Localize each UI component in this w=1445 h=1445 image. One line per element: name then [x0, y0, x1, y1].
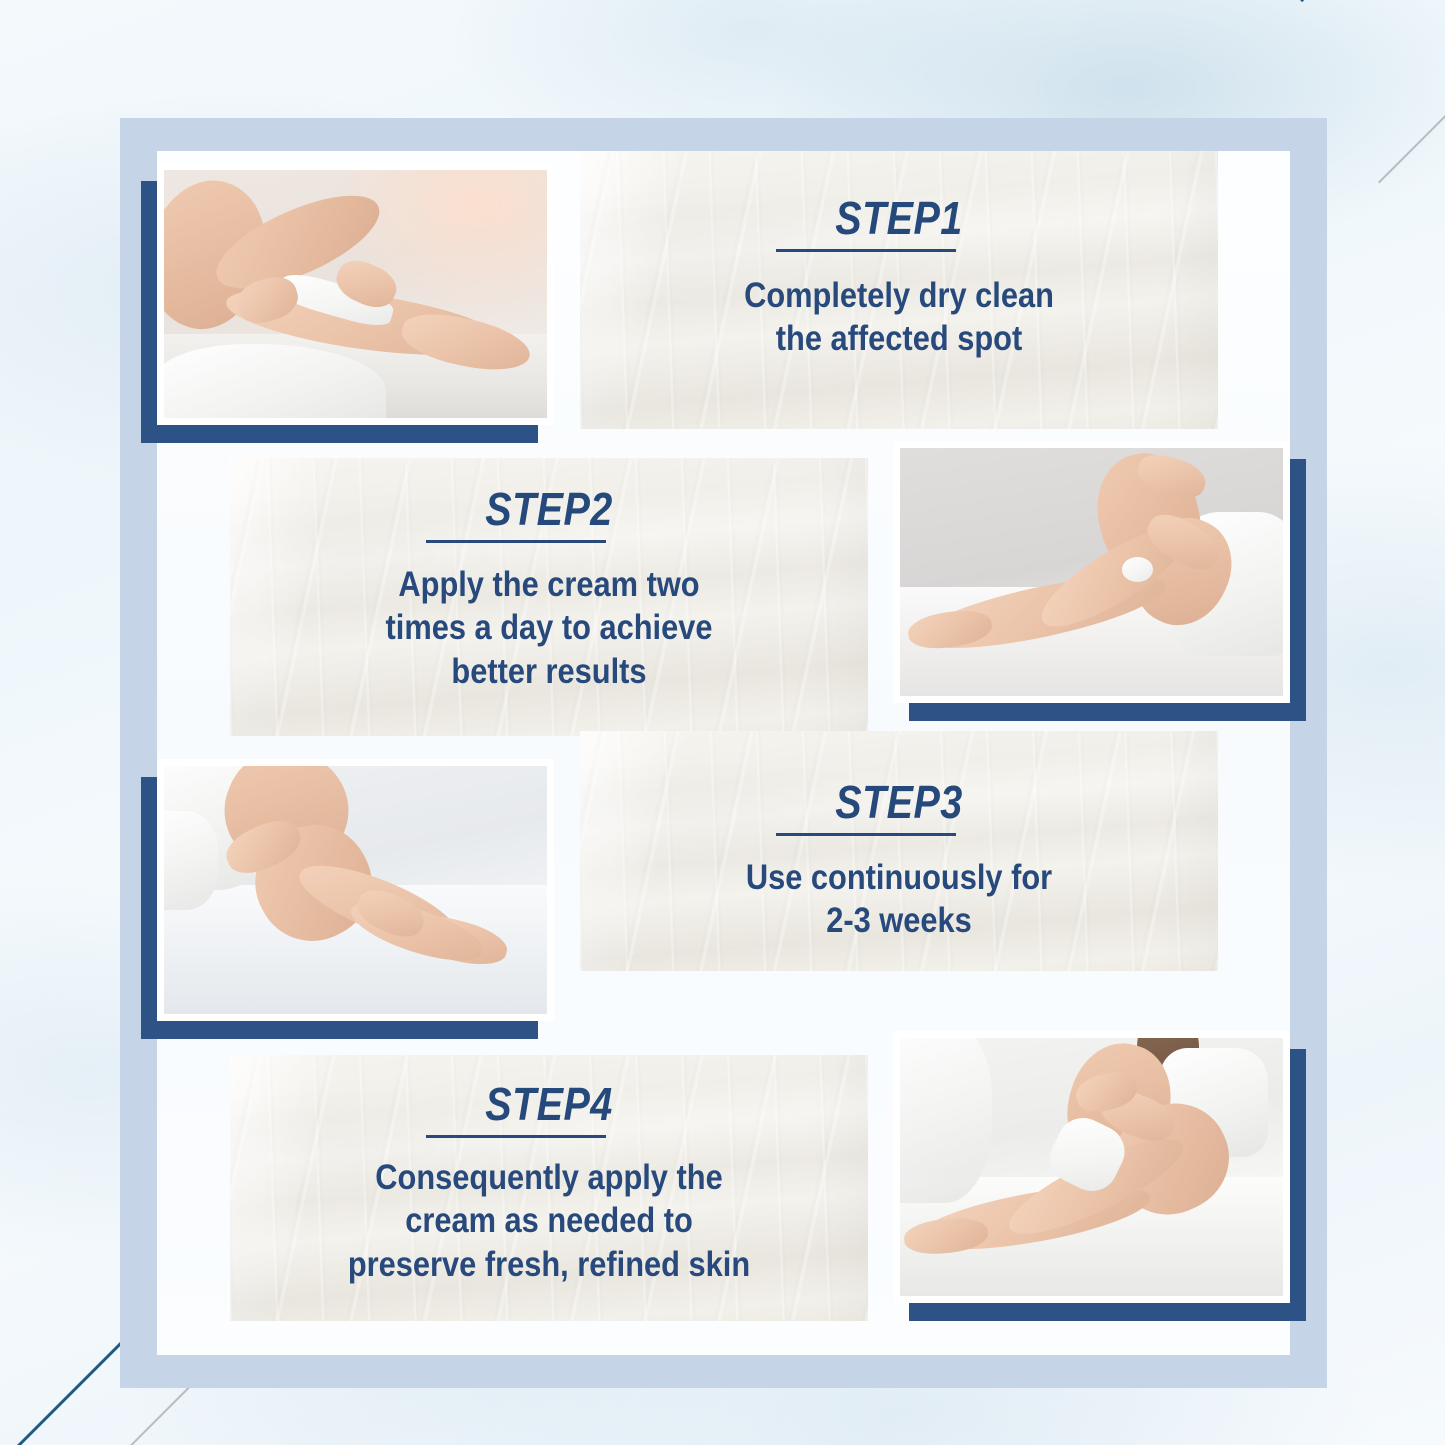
step-4-photo [893, 1031, 1290, 1303]
photo-image [164, 766, 547, 1014]
step-1-panel: STEP1 Completely dry clean the affected … [580, 151, 1218, 429]
diagonal-line-top-right-dark [1300, 0, 1445, 2]
photo-image [900, 1038, 1283, 1296]
photo-image [164, 170, 547, 418]
step-row-3: STEP3 Use continuously for 2-3 weeks [157, 731, 1290, 1031]
step-1-title: STEP1 [625, 195, 1174, 241]
step-4-body: Consequently apply the cream as needed t… [268, 1156, 829, 1286]
step-row-2: STEP2 Apply the cream two times a day to… [157, 441, 1290, 731]
step-row-4: STEP4 Consequently apply the cream as ne… [157, 1031, 1290, 1355]
step-4-panel: STEP4 Consequently apply the cream as ne… [230, 1055, 868, 1321]
step-4-title-rule [426, 1135, 606, 1138]
step-2-body: Apply the cream two times a day to achie… [268, 563, 829, 693]
diagonal-line-top-right-faint [1378, 104, 1445, 183]
step-row-1: STEP1 Completely dry clean the affected … [157, 151, 1290, 441]
photo-mat [157, 163, 554, 425]
step-3-photo [157, 759, 554, 1021]
step-3-title-rule [776, 833, 956, 836]
step-1-photo [157, 163, 554, 425]
step-3-title: STEP3 [625, 779, 1174, 825]
step-3-body: Use continuously for 2-3 weeks [618, 856, 1179, 943]
photo-mat [893, 1031, 1290, 1303]
infographic-canvas: STEP1 Completely dry clean the affected … [0, 0, 1445, 1445]
photo-image [900, 448, 1283, 696]
step-1-title-rule [776, 249, 956, 252]
photo-mat [893, 441, 1290, 703]
step-2-title: STEP2 [275, 486, 824, 532]
step-2-title-rule [426, 540, 606, 543]
outer-frame-band: STEP1 Completely dry clean the affected … [120, 118, 1327, 1388]
inner-card: STEP1 Completely dry clean the affected … [157, 151, 1290, 1355]
step-3-panel: STEP3 Use continuously for 2-3 weeks [580, 731, 1218, 971]
step-2-photo [893, 441, 1290, 703]
step-1-body: Completely dry clean the affected spot [618, 274, 1179, 361]
step-2-panel: STEP2 Apply the cream two times a day to… [230, 458, 868, 736]
photo-mat [157, 759, 554, 1021]
step-4-title: STEP4 [275, 1081, 824, 1127]
